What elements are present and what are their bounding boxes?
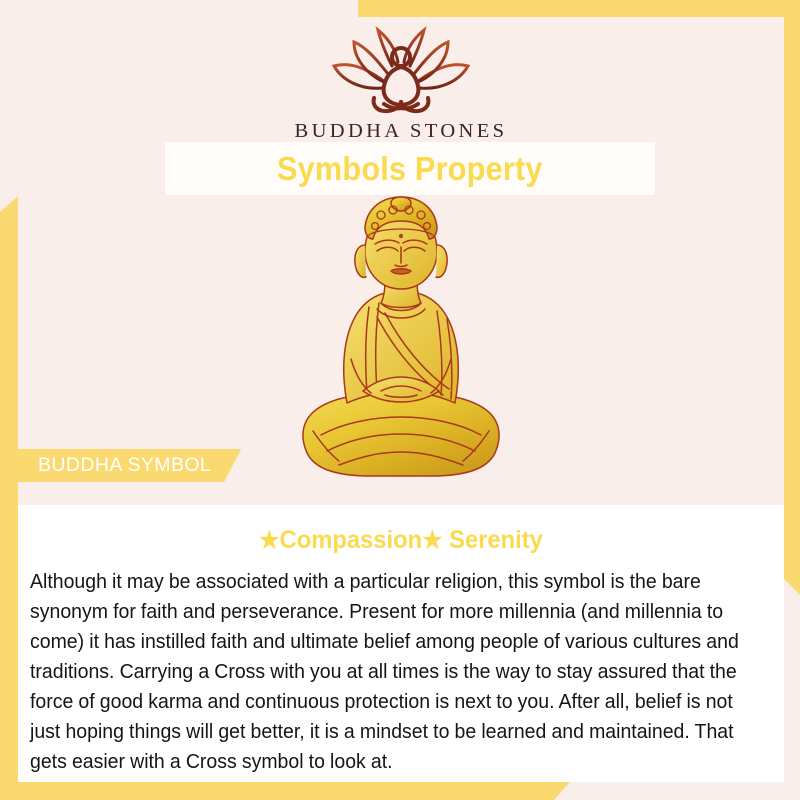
ribbon-label: BUDDHA SYMBOL [38,454,211,477]
decorative-band-top [358,0,800,17]
poster-inner-surface: BUDDHA STONES Symbols Property [18,17,784,782]
content-panel: ★Compassion★ Serenity Although it may be… [18,505,784,782]
page-title: Symbols Property [277,150,543,188]
buddha-symbol-ribbon: BUDDHA SYMBOL [18,449,241,482]
poster-root: BUDDHA STONES Symbols Property [0,0,800,800]
title-banner: Symbols Property [165,142,655,195]
description-paragraph: Although it may be associated with a par… [30,567,746,777]
decorative-band-bottom [0,782,570,800]
lotus-meditation-figure-icon [312,22,490,118]
decorative-band-left [0,196,18,782]
attribute-serenity: Serenity [443,526,543,554]
decorative-band-right [784,17,800,595]
seated-golden-buddha-illustration [281,195,521,487]
star-icon-right: ★ [422,527,442,554]
brand-header: BUDDHA STONES [18,22,784,143]
attribute-compassion: Compassion [280,526,423,554]
star-icon-left: ★ [259,527,279,554]
attributes-subtitle: ★Compassion★ Serenity [37,526,765,555]
brand-wordmark: BUDDHA STONES [295,120,508,143]
